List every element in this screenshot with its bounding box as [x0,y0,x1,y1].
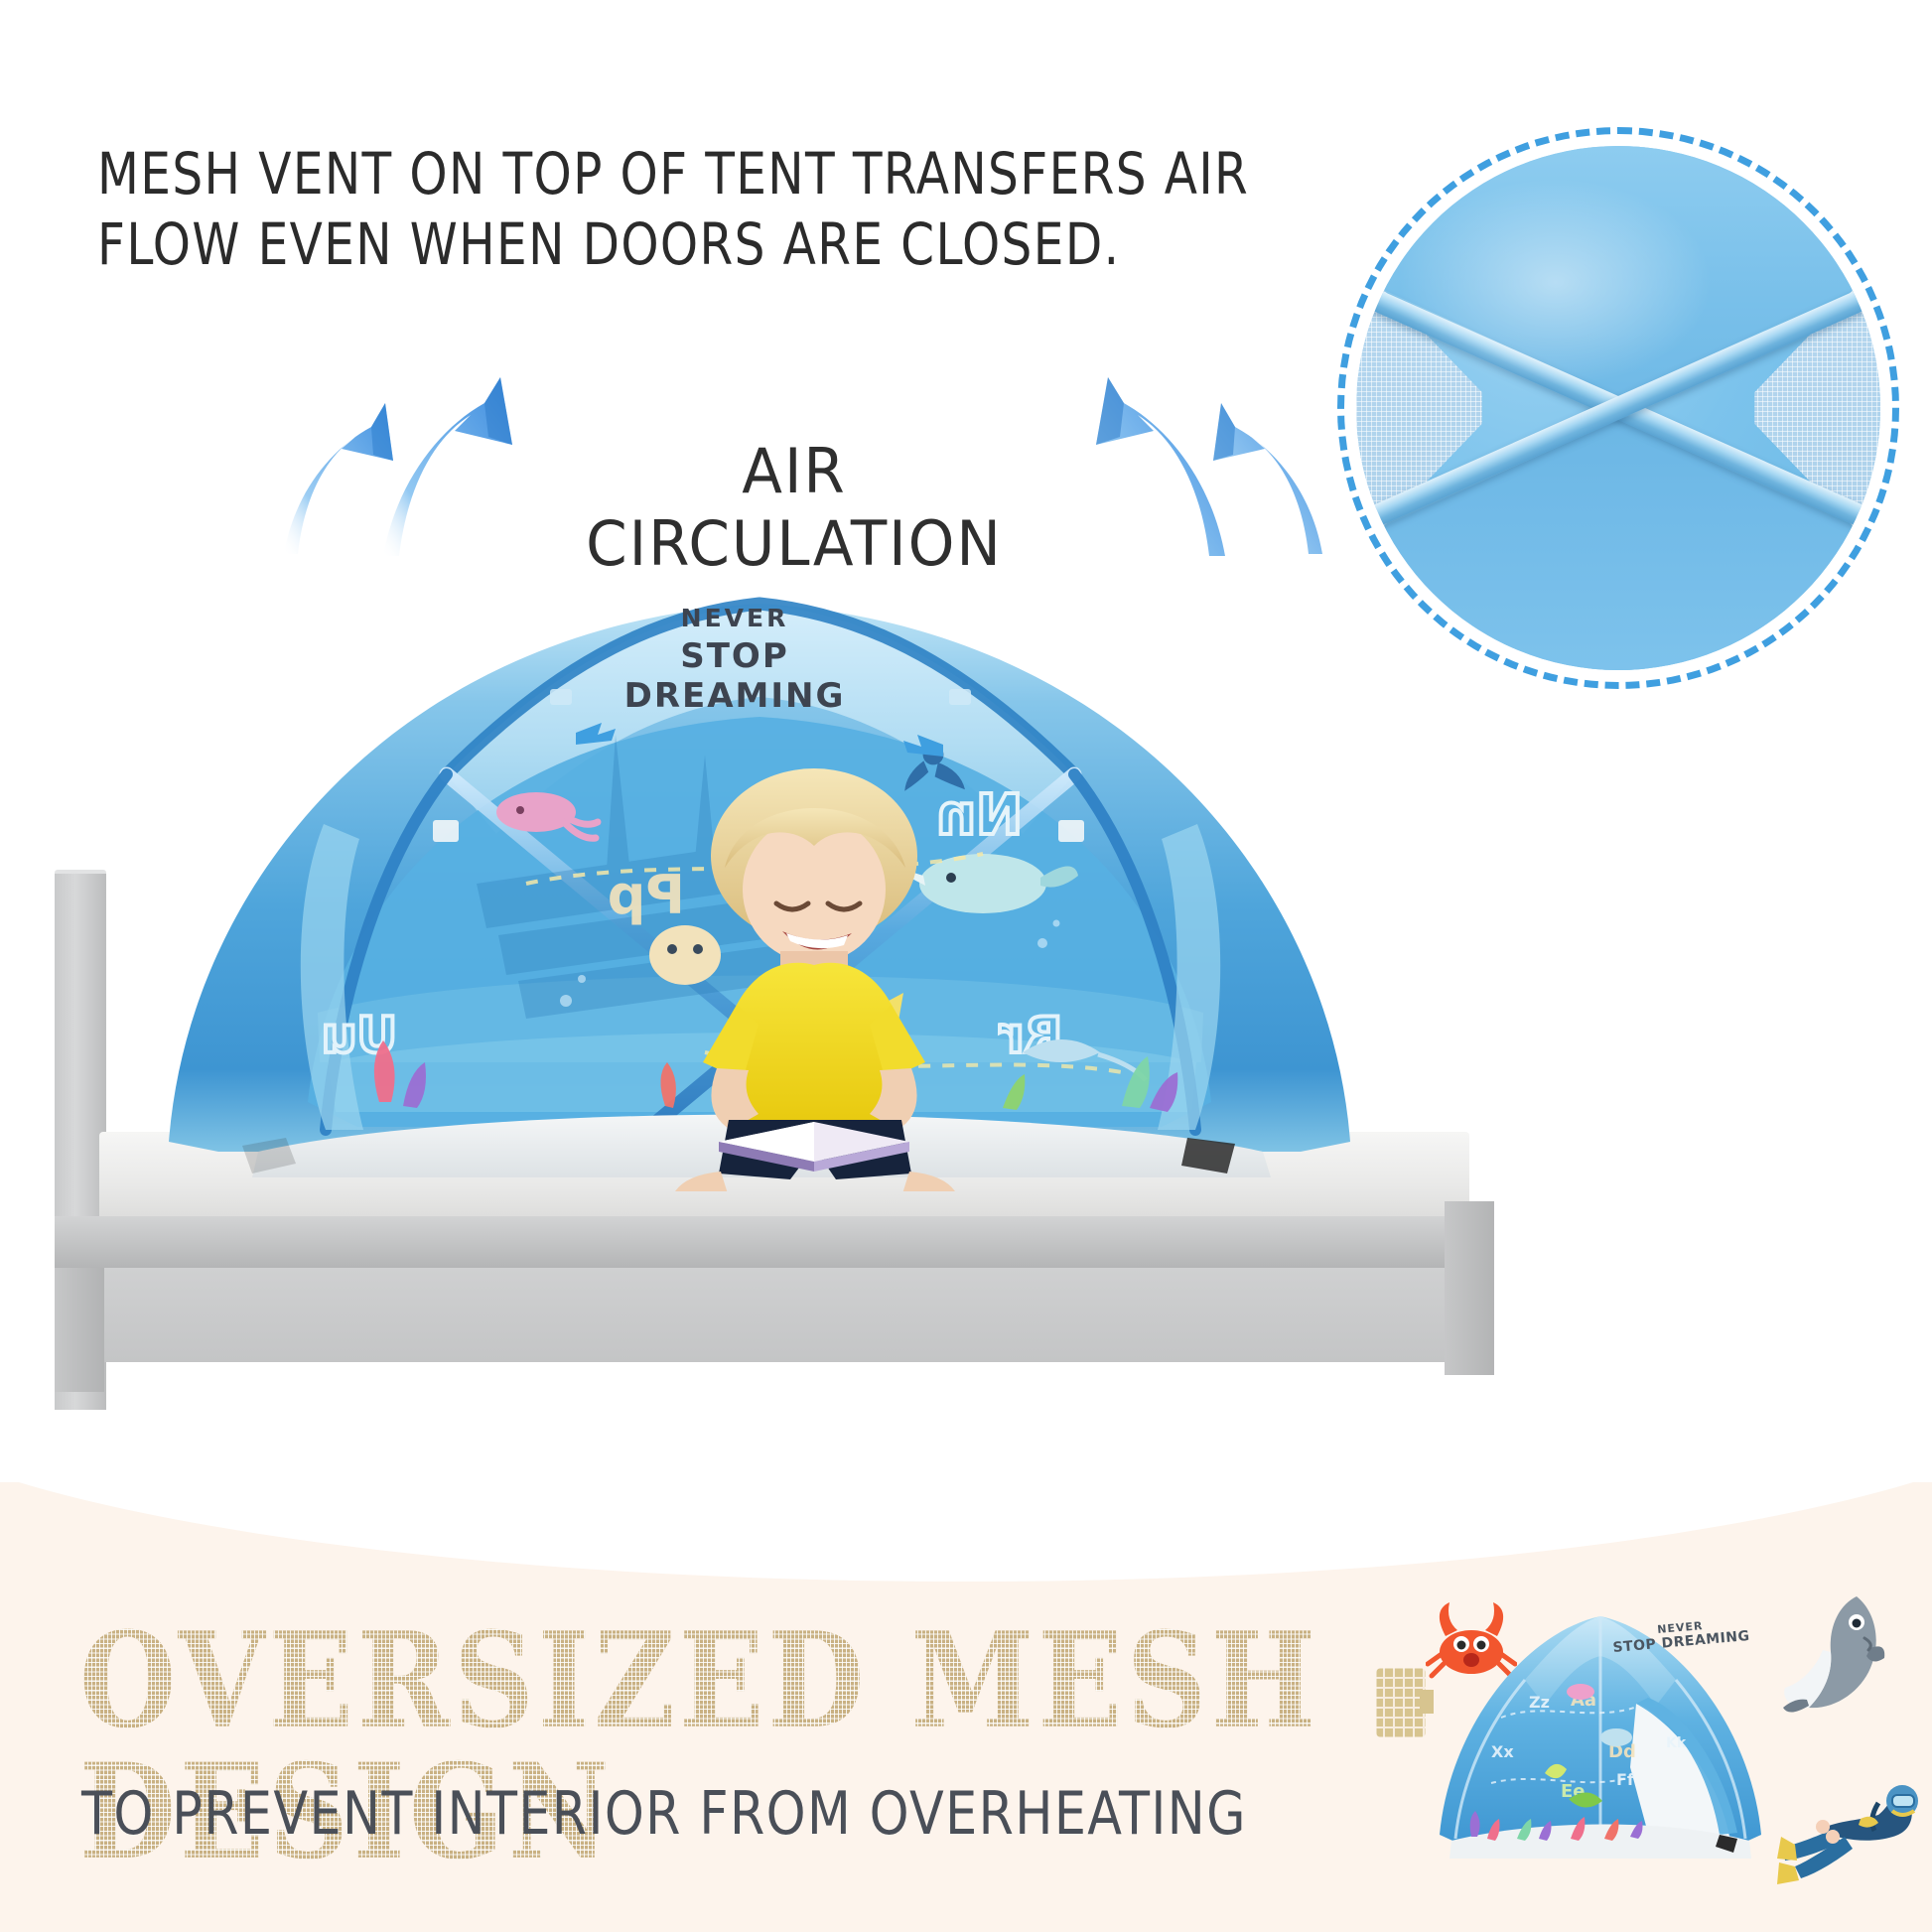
headline-line-1: MESH VENT ON TOP OF TENT TRANSFERS AIR [97,139,1186,209]
air-flow-arrow-left-inner [377,369,526,558]
air-circulation-label: AIR CIRCULATION [546,435,1041,580]
banner-subtitle: TO PREVENT INTERIOR FROM OVERHEATING [81,1779,1313,1849]
svg-text:Kk: Kk [1666,1735,1687,1751]
bed-lower-panel [99,1268,1479,1362]
banner-top-arc [0,1482,1932,1582]
child-reading-photo [625,764,1003,1191]
svg-text:Xx: Xx [1491,1742,1514,1761]
infographic-canvas: MESH VENT ON TOP OF TENT TRANSFERS AIR F… [0,0,1932,1932]
svg-text:Zz: Zz [1529,1693,1550,1712]
air-flow-arrow-right-outer [1203,389,1330,556]
mesh-vent-photo [1356,146,1880,670]
svg-text:Ff: Ff [1616,1770,1635,1789]
bed-side-rail [55,1216,1494,1268]
bed-leg-right [1445,1201,1494,1375]
page-headline: MESH VENT ON TOP OF TENT TRANSFERS AIR F… [97,139,1186,280]
scuba-diver-icon [1775,1775,1924,1894]
dolphin-icon [1779,1588,1886,1716]
headline-line-2: FLOW EVEN WHEN DOORS ARE CLOSED. [97,209,1186,280]
mesh-vent-closeup-inset [1337,127,1899,689]
bed-leg-left [55,1268,104,1392]
product-thumbnail-tent: Zz Xx Aa Dd Ee Ff Kk [1422,1588,1779,1886]
